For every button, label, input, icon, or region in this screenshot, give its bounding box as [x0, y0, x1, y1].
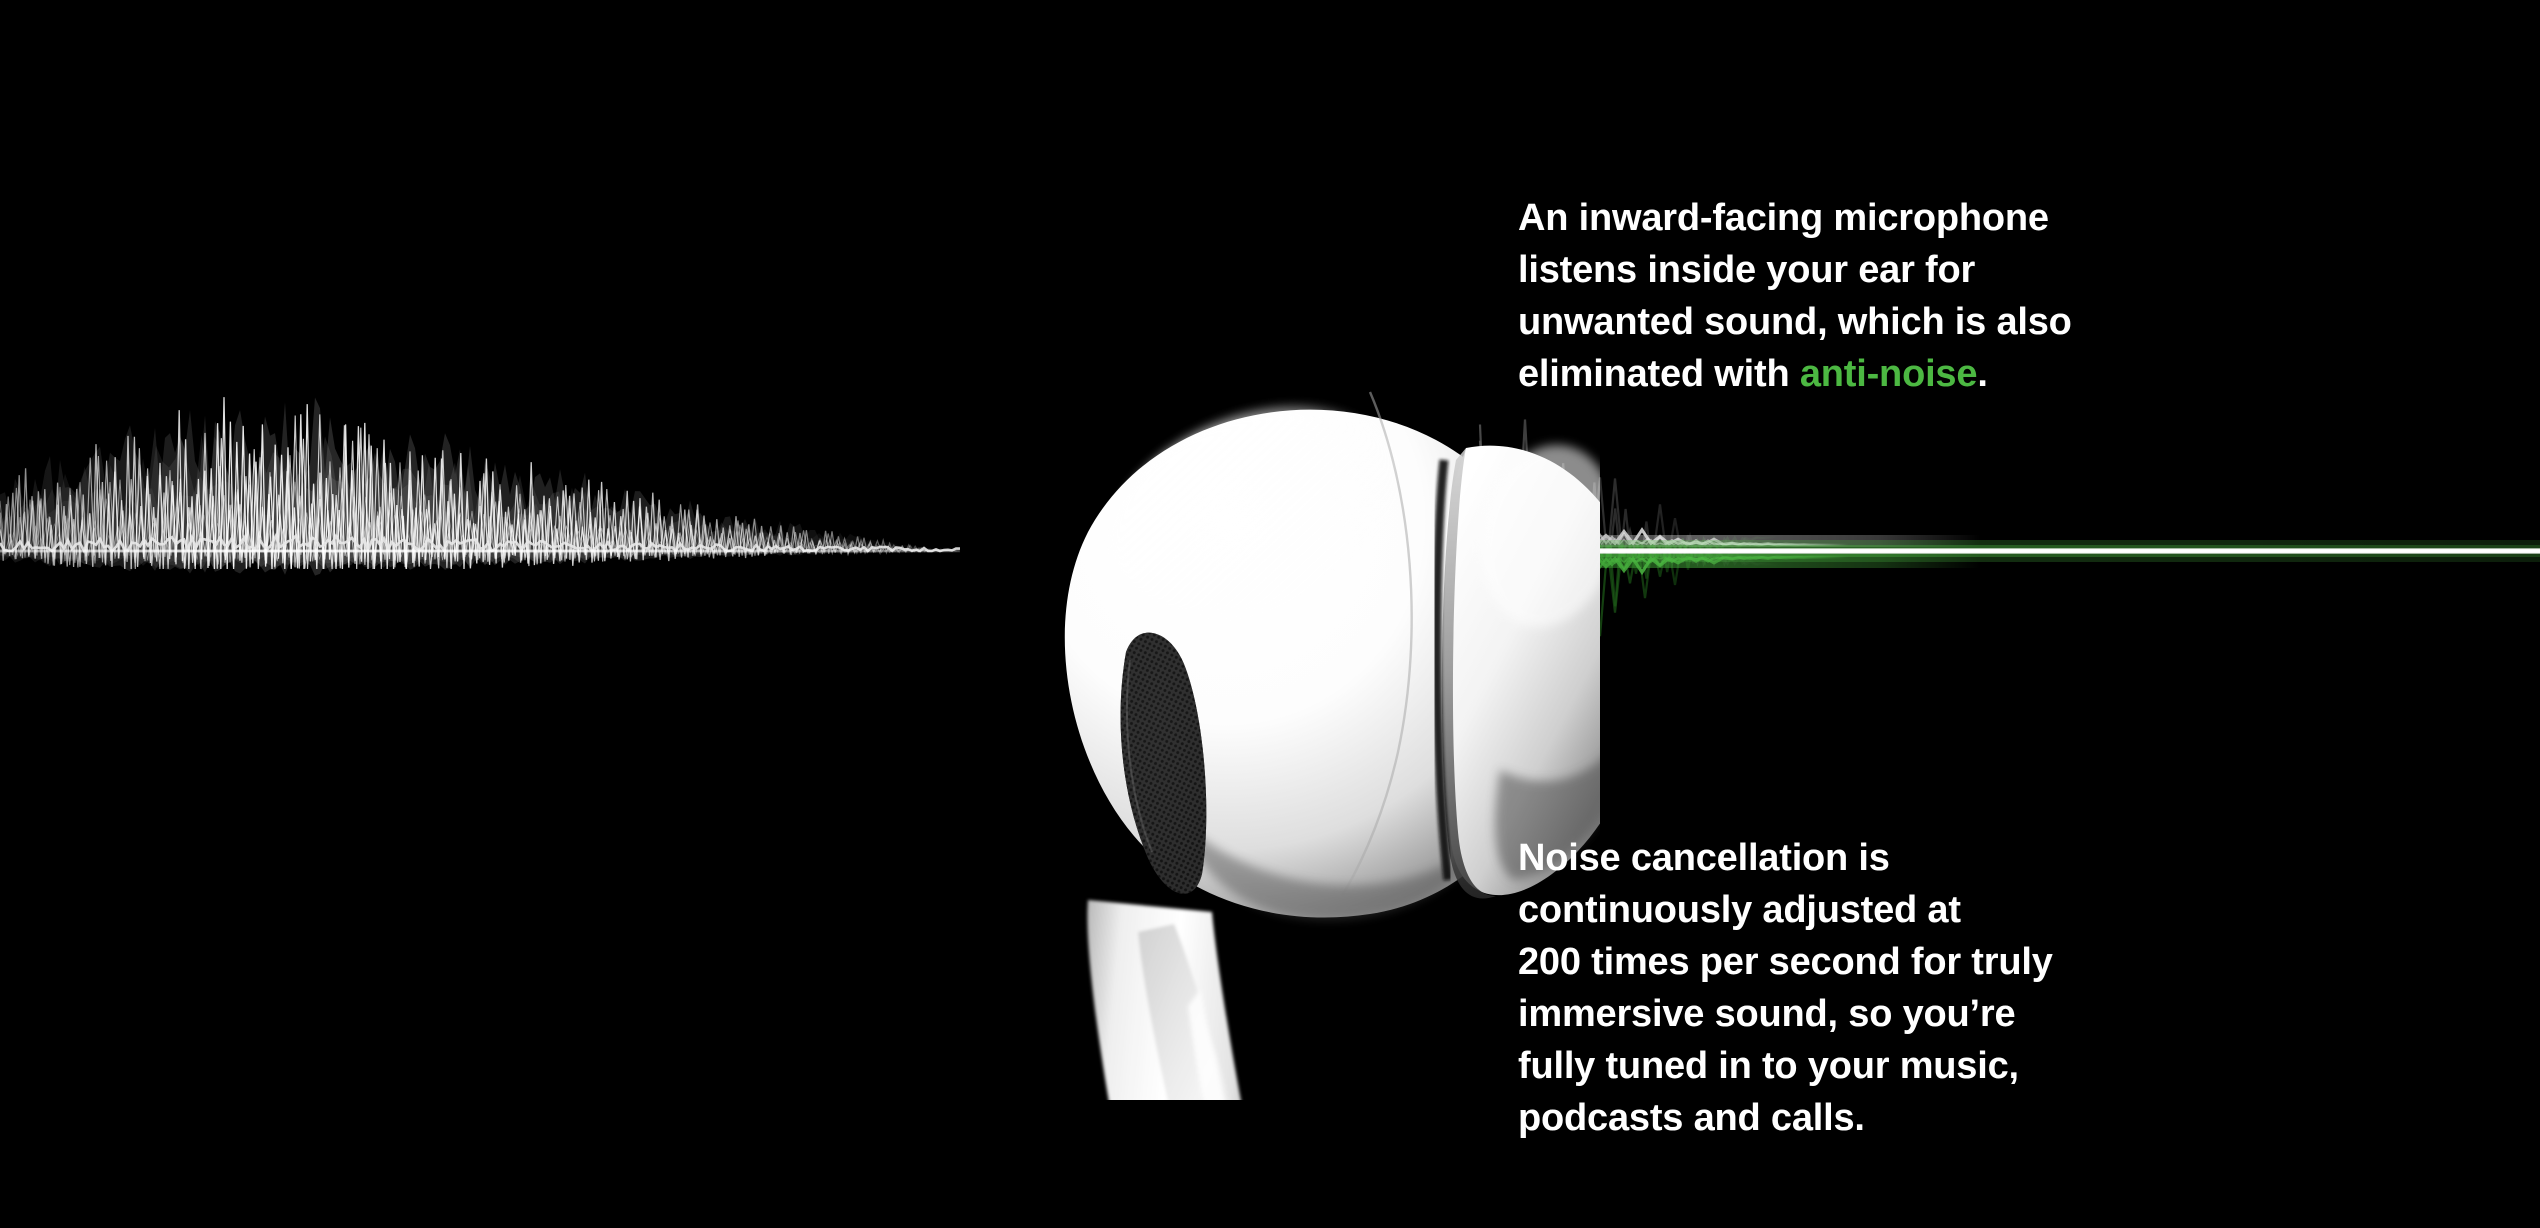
copy-lead: An inward-facing microphone listens insi…	[1518, 197, 2072, 395]
copy-inward-facing-microphone: An inward-facing microphone listens insi…	[1518, 140, 2218, 400]
airpods-pro-earbud	[900, 300, 1600, 1100]
copy-tail: .	[1977, 353, 1987, 395]
stem	[1087, 900, 1301, 1100]
accent-anti-noise: anti-noise	[1800, 353, 1977, 395]
copy-continuous-adjustment: Noise cancellation is continuously adjus…	[1518, 780, 2218, 1144]
hero-stage: An inward-facing microphone listens insi…	[0, 0, 2540, 1228]
copy-lead: Noise cancellation is continuously adjus…	[1518, 837, 2053, 1139]
